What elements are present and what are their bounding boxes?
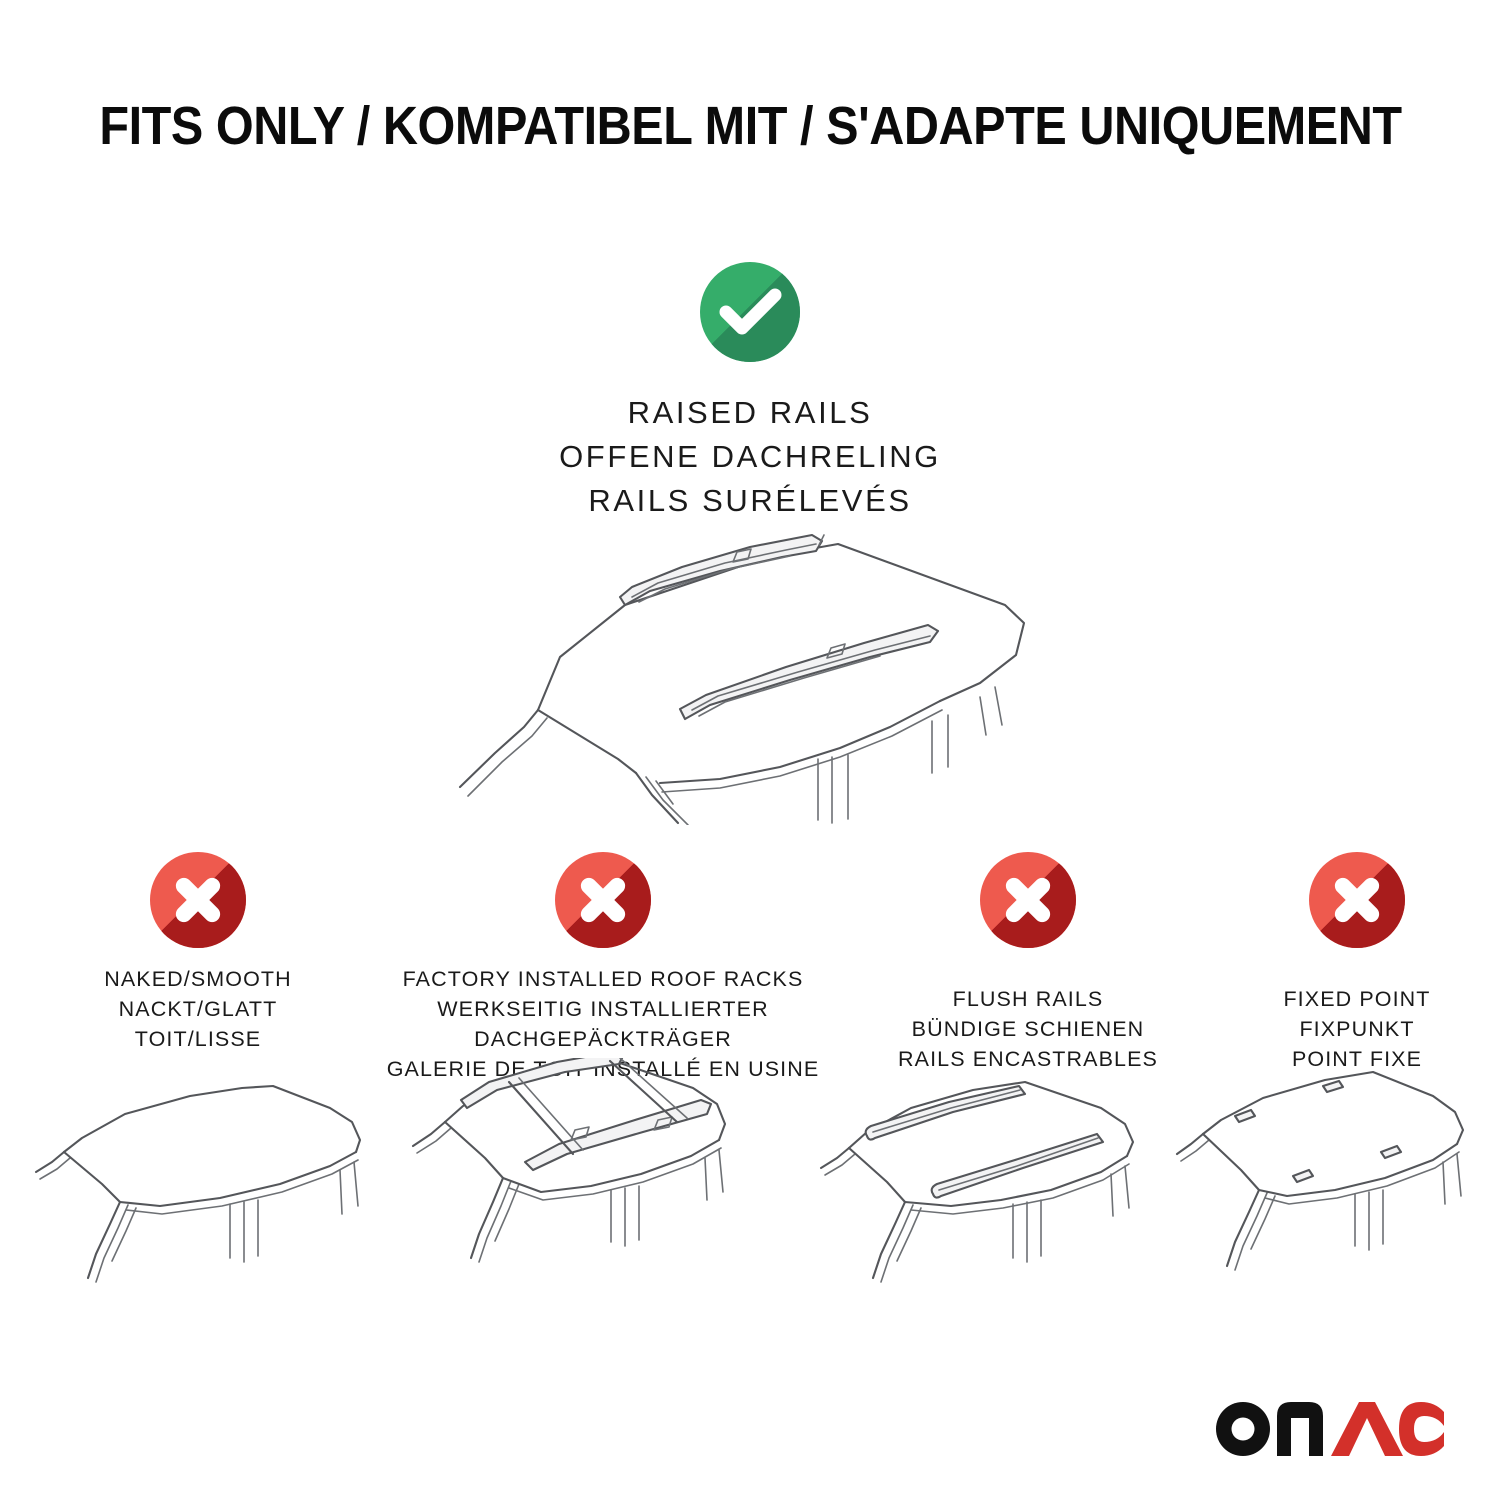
- incompatible-labels: NAKED/SMOOTH NACKT/GLATT TOIT/LISSE: [28, 964, 368, 1054]
- x-circle-icon: [555, 852, 651, 948]
- badge-wrap: [368, 852, 838, 962]
- x-mark-glyph: [150, 852, 246, 948]
- car-roof-naked-smooth-illustration: [30, 1066, 420, 1311]
- x-mark-glyph: [980, 852, 1076, 948]
- compatible-labels: RAISED RAILS OFFENE DACHRELING RAILS SUR…: [0, 391, 1500, 523]
- incompatible-label-line: FACTORY INSTALLED ROOF RACKS: [368, 964, 838, 994]
- check-mark-glyph: [700, 262, 800, 362]
- incompatible-column-flush-rails: FLUSH RAILS BÜNDIGE SCHIENEN RAILS ENCAS…: [848, 852, 1208, 1084]
- omac-logo: [1213, 1396, 1445, 1458]
- compatible-section: RAISED RAILS OFFENE DACHRELING RAILS SUR…: [0, 262, 1500, 523]
- page-header: FITS ONLY / KOMPATIBEL MIT / S'ADAPTE UN…: [0, 96, 1500, 156]
- x-circle-icon: [1309, 852, 1405, 948]
- badge-wrap: [28, 852, 368, 962]
- incompatible-label-line: TOIT/LISSE: [28, 1024, 368, 1054]
- incompatible-column-factory-roof-racks: FACTORY INSTALLED ROOF RACKS WERKSEITIG …: [368, 852, 838, 1084]
- incompatible-label-line: FIXED POINT: [1222, 984, 1492, 1014]
- incompatible-sections: NAKED/SMOOTH NACKT/GLATT TOIT/LISSE: [0, 852, 1500, 1084]
- incompatible-illustrations: [0, 1060, 1500, 1310]
- incompatible-label-line: FLUSH RAILS: [848, 984, 1208, 1014]
- incompatible-label-line: FIXPUNKT: [1222, 1014, 1492, 1044]
- car-roof-factory-roof-racks-illustration: [405, 1058, 805, 1308]
- x-circle-icon: [980, 852, 1076, 948]
- page-title: FITS ONLY / KOMPATIBEL MIT / S'ADAPTE UN…: [99, 96, 1401, 156]
- incompatible-label-line: NACKT/GLATT: [28, 994, 368, 1024]
- badge-wrap: [1222, 852, 1492, 962]
- incompatible-column-naked-smooth: NAKED/SMOOTH NACKT/GLATT TOIT/LISSE: [28, 852, 368, 1084]
- incompatible-label-line: BÜNDIGE SCHIENEN: [848, 1014, 1208, 1044]
- car-roof-flush-rails-illustration: [815, 1064, 1210, 1309]
- x-mark-glyph: [1309, 852, 1405, 948]
- compatible-label-line: RAISED RAILS: [0, 391, 1500, 435]
- compatible-label-line: OFFENE DACHRELING: [0, 435, 1500, 479]
- incompatible-column-fixed-point: FIXED POINT FIXPUNKT POINT FIXE: [1222, 852, 1492, 1084]
- x-circle-icon: [150, 852, 246, 948]
- badge-wrap: [848, 852, 1208, 962]
- incompatible-label-line: WERKSEITIG INSTALLIERTER: [368, 994, 838, 1024]
- car-roof-raised-rails-illustration: [420, 505, 1100, 825]
- car-roof-fixed-point-illustration: [1175, 1064, 1500, 1309]
- incompatible-label-line: DACHGEPÄCKTRÄGER: [368, 1024, 838, 1054]
- x-mark-glyph: [555, 852, 651, 948]
- check-circle-icon: [700, 262, 800, 362]
- incompatible-label-line: NAKED/SMOOTH: [28, 964, 368, 994]
